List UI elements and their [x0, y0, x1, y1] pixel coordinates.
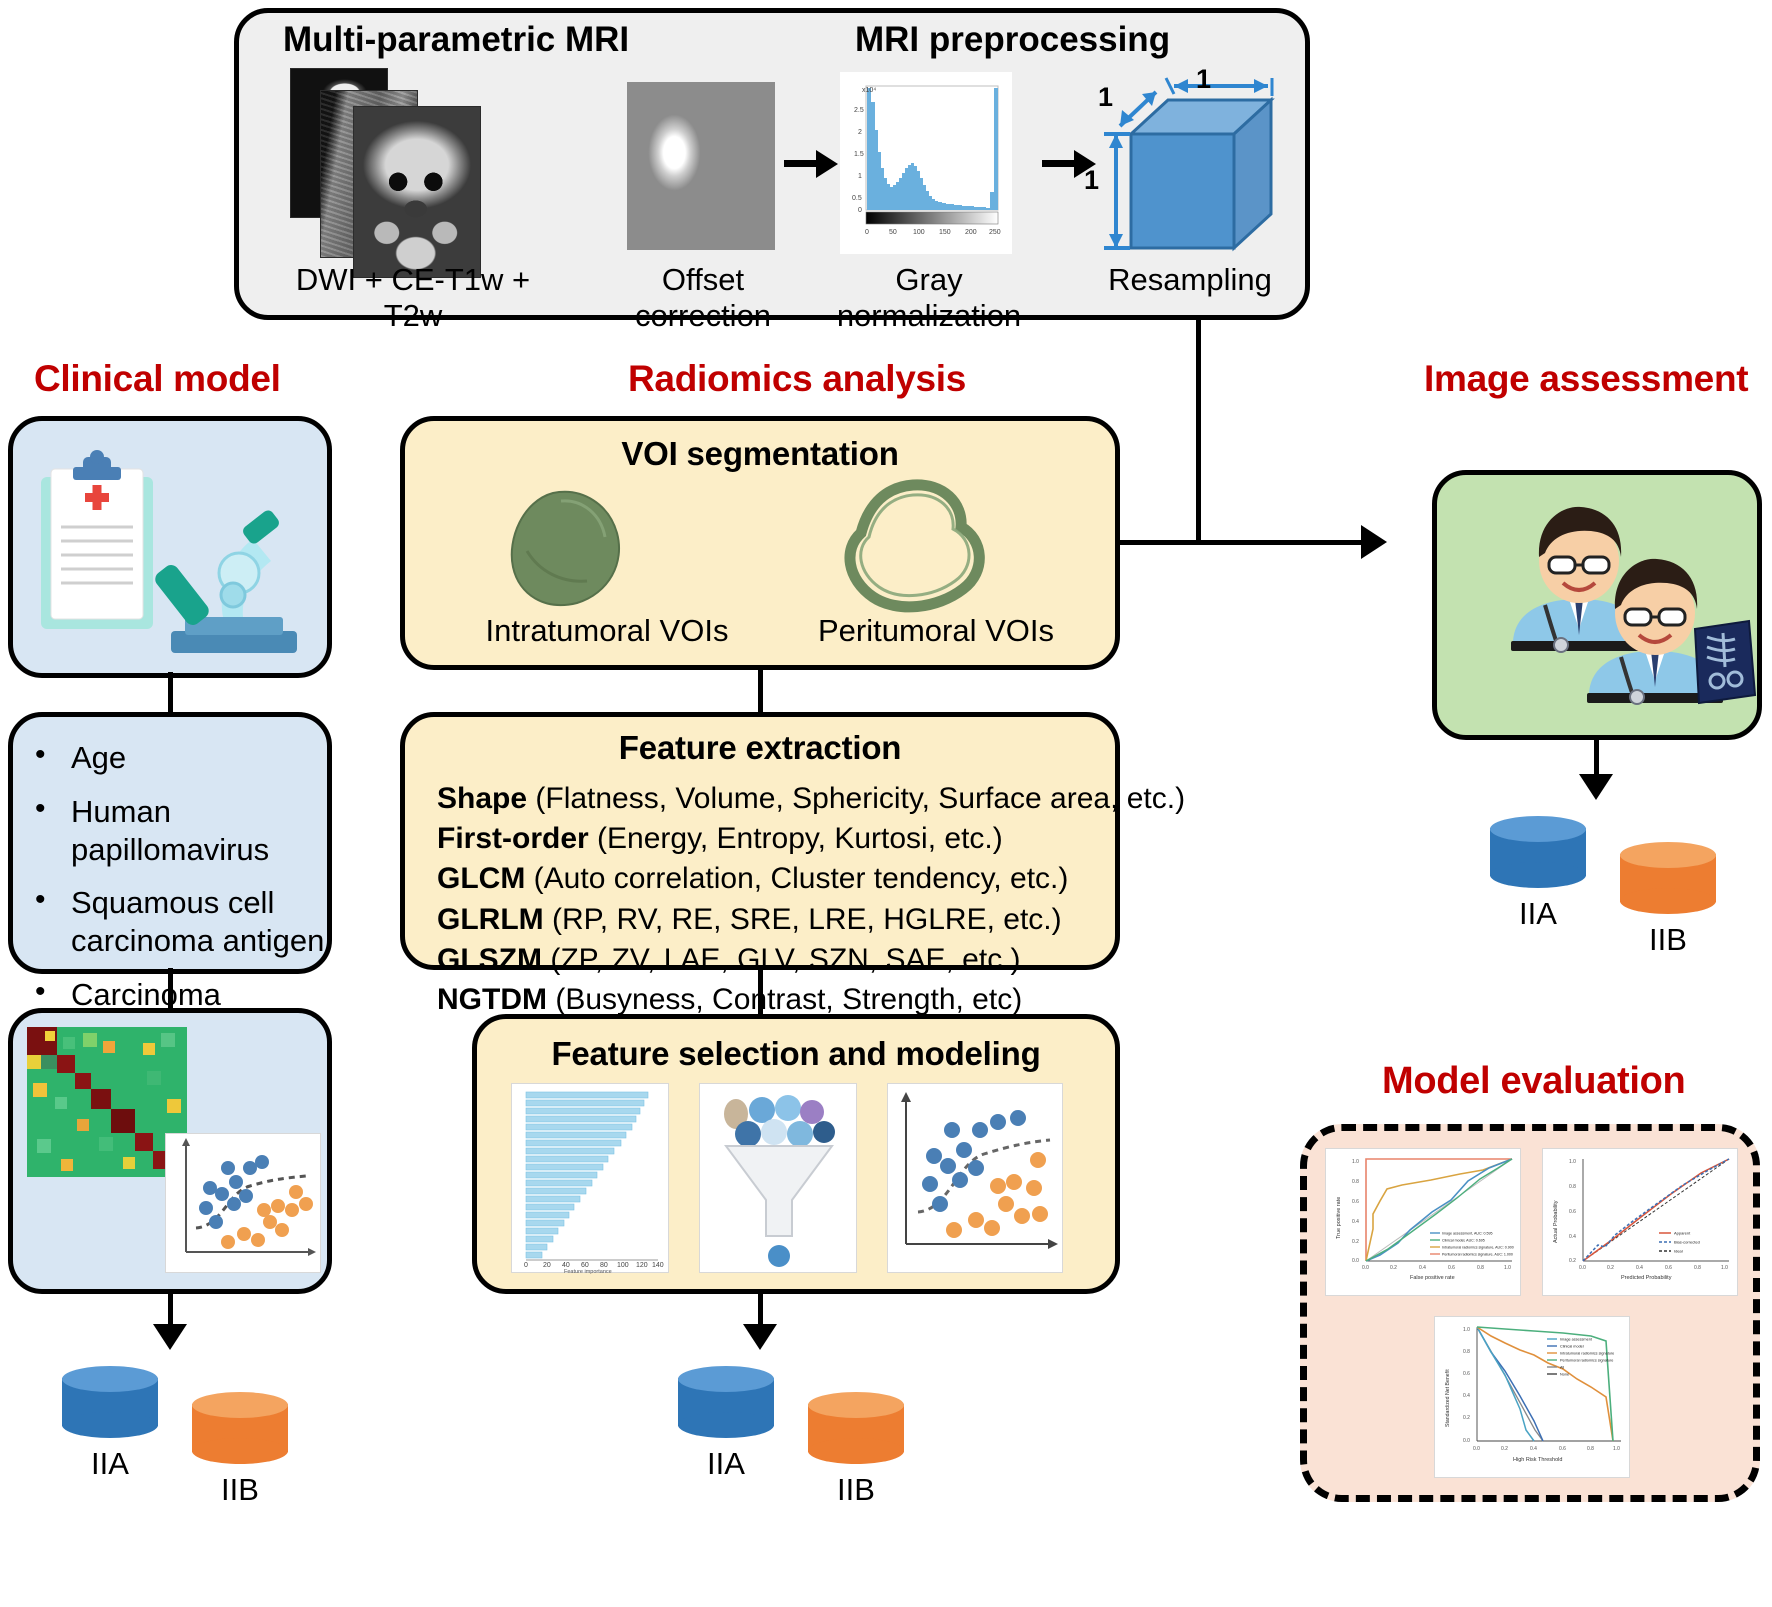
svg-text:Image assessment, AUC: 0.595: Image assessment, AUC: 0.595 [1442, 1232, 1493, 1236]
svg-text:0.8: 0.8 [1569, 1184, 1576, 1190]
correlation-heatmap [27, 1027, 187, 1177]
feature-selection-box: Feature selection and modeling [472, 1014, 1120, 1294]
svg-text:None: None [1560, 1372, 1569, 1376]
assessment-output-iib: IIB [1620, 816, 1716, 958]
svg-text:1.0: 1.0 [1352, 1159, 1359, 1165]
clinical-output-iia-label: IIA [62, 1446, 158, 1482]
clinical-output-iia: IIA [62, 1366, 158, 1508]
svg-text:200: 200 [965, 229, 977, 236]
feature-extraction-header: Feature extraction [405, 729, 1115, 767]
radiomics-to-output-line [758, 1290, 763, 1328]
feature-family-ngtdm: NGTDM [437, 983, 547, 1016]
svg-text:1.0: 1.0 [1569, 1159, 1576, 1165]
clinical-plots-box [8, 1008, 332, 1294]
svg-text:0.6: 0.6 [1463, 1371, 1470, 1377]
svg-text:Peritumoral radiomics signatur: Peritumoral radiomics signature [1560, 1358, 1613, 1362]
svg-text:1.0: 1.0 [1463, 1327, 1470, 1333]
svg-text:0.0: 0.0 [1579, 1265, 1586, 1271]
feature-selection-header: Feature selection and modeling [477, 1035, 1115, 1073]
svg-text:0: 0 [865, 229, 869, 236]
peritumoral-voi-shape [825, 479, 1005, 619]
svg-text:Actual Probability: Actual Probability [1553, 1200, 1559, 1243]
feature-detail-glrlm: (RP, RV, RE, SRE, LRE, HGLRE, etc.) [552, 903, 1062, 936]
assessment-output-iib-label: IIB [1620, 922, 1716, 958]
svg-text:0.4: 0.4 [1636, 1265, 1643, 1271]
clinical-factor-item: Age [13, 739, 327, 777]
voi-to-extraction-line [758, 666, 763, 714]
svg-text:0.2: 0.2 [1463, 1415, 1470, 1421]
svg-text:50: 50 [889, 229, 897, 236]
split-arrow-right [1361, 525, 1387, 559]
radiomics-analysis-title: Radiomics analysis [628, 358, 966, 400]
svg-text:Predicted Probability: Predicted Probability [1621, 1275, 1672, 1281]
feature-importance-plot: 020 4060 80100 120140 Feature importance [511, 1083, 669, 1273]
voi-segmentation-box: VOI segmentation Intratumoral VOIs Perit… [400, 416, 1120, 670]
radiologists-icon [1483, 495, 1772, 725]
svg-text:0.4: 0.4 [1463, 1393, 1470, 1399]
feature-detail-glszm: (ZP, ZV, LAE, GLV, SZN, SAE, etc.) [550, 943, 1020, 976]
svg-text:150: 150 [939, 229, 951, 236]
resample-dim-depth: 1 [1098, 82, 1113, 113]
svg-text:0.2: 0.2 [1352, 1239, 1359, 1245]
svg-text:Peritumoral radiomics signatur: Peritumoral radiomics signature, AUC: 1.… [1442, 1253, 1513, 1257]
preproc-arrow-1-line [784, 160, 818, 167]
feature-detail-glcm: (Auto correlation, Cluster tendency, etc… [534, 862, 1069, 895]
voi-segmentation-header: VOI segmentation [405, 435, 1115, 473]
resample-dim-width: 1 [1196, 64, 1211, 95]
svg-text:0.4: 0.4 [1419, 1265, 1426, 1271]
assessment-output-arrow [1579, 774, 1613, 800]
svg-text:1.0: 1.0 [1721, 1265, 1728, 1271]
clinical-icon-box [8, 416, 332, 678]
feature-line-first-order: First-order (Energy, Entropy, Kurtosi, e… [437, 819, 1115, 859]
calibration-curve-plot: 1.00.8 0.60.4 0.2 0.00.2 0.40.6 0.81.0 P… [1542, 1148, 1738, 1296]
clinical-to-output-line [168, 1290, 173, 1328]
svg-text:True positive rate: True positive rate [1336, 1197, 1342, 1239]
svg-text:0.5: 0.5 [852, 195, 862, 202]
svg-text:Clinical model, AUC: 0.695: Clinical model, AUC: 0.695 [1442, 1239, 1485, 1243]
svg-text:100: 100 [617, 1262, 629, 1269]
svg-text:0.0: 0.0 [1473, 1446, 1480, 1452]
intratumoral-voi-caption: Intratumoral VOIs [467, 613, 747, 649]
mri-preprocessing-title: MRI preprocessing [855, 20, 1170, 60]
feature-detail-first-order: (Energy, Entropy, Kurtosi, etc.) [597, 822, 1003, 855]
feature-line-glrlm: GLRLM (RP, RV, RE, SRE, LRE, HGLRE, etc.… [437, 900, 1115, 940]
radiomics-output-iib: IIB [808, 1366, 904, 1508]
gray-normalization-caption: Gray normalization [816, 262, 1042, 334]
radiomics-output-iia: IIA [678, 1366, 774, 1508]
svg-text:0.4: 0.4 [1530, 1446, 1537, 1452]
clinical-scatter-plot [165, 1133, 321, 1273]
preproc-arrow-1-head [816, 150, 838, 178]
multiparametric-mri-title: Multi-parametric MRI [283, 20, 629, 60]
feature-line-glszm: GLSZM (ZP, ZV, LAE, GLV, SZN, SAE, etc.) [437, 940, 1115, 980]
feature-family-first-order: First-order [437, 822, 589, 855]
svg-text:0.6: 0.6 [1352, 1199, 1359, 1205]
intratumoral-voi-shape [491, 485, 661, 615]
svg-text:60: 60 [581, 1262, 589, 1269]
svg-text:Intratumoral radiomics signatu: Intratumoral radiomics signature, AUC: 0… [1442, 1246, 1514, 1250]
radiomics-output-arrow [743, 1324, 777, 1350]
gray-normalization-histogram: x10⁴ 2.5 2 1.5 1 0.5 0 0 50 100 150 200 … [840, 72, 1012, 254]
clinical-factors-to-plots-line [168, 968, 173, 1012]
svg-text:140: 140 [652, 1262, 664, 1269]
svg-text:1.5: 1.5 [854, 151, 864, 158]
offset-correction-caption: Offset correction [598, 262, 808, 334]
svg-text:0: 0 [858, 207, 862, 214]
svg-text:Bias-corrected: Bias-corrected [1674, 1240, 1700, 1245]
svg-text:0.8: 0.8 [1463, 1349, 1470, 1355]
svg-text:0.6: 0.6 [1665, 1265, 1672, 1271]
svg-text:0.0: 0.0 [1352, 1258, 1359, 1264]
feature-line-glcm: GLCM (Auto correlation, Cluster tendency… [437, 859, 1115, 899]
svg-text:Apparent: Apparent [1674, 1231, 1691, 1236]
feature-detail-shape: (Flatness, Volume, Sphericity, Surface a… [535, 782, 1185, 815]
assessment-output-iia: IIA [1490, 816, 1586, 958]
svg-text:120: 120 [636, 1262, 648, 1269]
clinical-output-arrow [153, 1324, 187, 1350]
clinical-outputs: IIA IIB [62, 1366, 288, 1508]
feature-extraction-box: Feature extraction Shape (Flatness, Volu… [400, 712, 1120, 970]
svg-text:80: 80 [600, 1262, 608, 1269]
svg-text:Feature importance: Feature importance [564, 1269, 612, 1274]
clinical-output-iib-label: IIB [192, 1472, 288, 1508]
modeling-scatter-plot [887, 1083, 1063, 1273]
radiomics-output-iib-label: IIB [808, 1472, 904, 1508]
clipboard-microscope-icon [27, 435, 327, 675]
svg-text:0.0: 0.0 [1463, 1438, 1470, 1444]
svg-text:0.4: 0.4 [1569, 1234, 1576, 1240]
svg-text:0.2: 0.2 [1501, 1446, 1508, 1452]
clinical-factors-box: Age Human papillomavirus Squamous cell c… [8, 712, 332, 974]
image-assessment-title: Image assessment [1424, 358, 1748, 400]
svg-text:20: 20 [543, 1262, 551, 1269]
feature-detail-ngtdm: (Busyness, Contrast, Strength, etc) [555, 983, 1022, 1016]
svg-text:x10⁴: x10⁴ [862, 87, 876, 94]
svg-text:0.6: 0.6 [1448, 1265, 1455, 1271]
svg-text:Image assessment: Image assessment [1560, 1337, 1593, 1341]
feature-funnel-plot [699, 1083, 857, 1273]
resampling-voxel [1096, 64, 1286, 260]
svg-text:0.8: 0.8 [1694, 1265, 1701, 1271]
feature-family-glszm: GLSZM [437, 943, 542, 976]
radiomics-output-iia-label: IIA [678, 1446, 774, 1482]
extraction-to-selection-line [758, 966, 763, 1018]
svg-text:All: All [1560, 1365, 1564, 1369]
svg-text:0.6: 0.6 [1559, 1446, 1566, 1452]
svg-text:0.8: 0.8 [1352, 1179, 1359, 1185]
svg-text:0.8: 0.8 [1477, 1265, 1484, 1271]
decision-curve-plot: 1.00.8 0.60.4 0.20.0 0.00.2 0.40.6 0.81.… [1434, 1316, 1630, 1478]
svg-text:0: 0 [524, 1262, 528, 1269]
svg-text:0.8: 0.8 [1587, 1446, 1594, 1452]
svg-text:Standardized Net Benefit: Standardized Net Benefit [1445, 1369, 1451, 1427]
feature-family-shape: Shape [437, 782, 527, 815]
gray-normalization-image: x10⁴ 2.5 2 1.5 1 0.5 0 0 50 100 150 200 … [840, 72, 1012, 254]
model-evaluation-title: Model evaluation [1382, 1060, 1685, 1103]
feature-family-glrlm: GLRLM [437, 903, 544, 936]
svg-text:2: 2 [858, 129, 862, 136]
svg-text:Ideal: Ideal [1674, 1249, 1683, 1254]
offset-correction-image [627, 82, 775, 250]
svg-text:Intratumoral radiomics signatu: Intratumoral radiomics signature [1560, 1351, 1614, 1355]
resampling-caption: Resampling [1078, 262, 1302, 298]
preproc-arrow-2-line [1042, 160, 1076, 167]
clinical-factor-item: Squamous cell carcinoma antigen [13, 884, 327, 960]
roc-curve-plot: 1.00.8 0.60.4 0.20.0 0.00.2 0.40.6 0.81.… [1325, 1148, 1521, 1296]
svg-text:0.6: 0.6 [1569, 1209, 1576, 1215]
clinical-model-title: Clinical model [34, 358, 281, 400]
mri-slice-stack [290, 68, 540, 258]
svg-text:250: 250 [989, 229, 1001, 236]
clinical-output-iib: IIB [192, 1366, 288, 1508]
svg-text:2.5: 2.5 [854, 107, 864, 114]
svg-text:0.0: 0.0 [1362, 1265, 1369, 1271]
radiomics-outputs: IIA IIB [678, 1366, 904, 1508]
assessment-outputs: IIA IIB [1490, 816, 1716, 958]
svg-text:High Risk Threshold: High Risk Threshold [1513, 1457, 1562, 1463]
svg-text:1.0: 1.0 [1613, 1446, 1620, 1452]
feature-line-shape: Shape (Flatness, Volume, Sphericity, Sur… [437, 779, 1115, 819]
feature-family-glcm: GLCM [437, 862, 525, 895]
image-assessment-box [1432, 470, 1762, 740]
svg-text:40: 40 [562, 1262, 570, 1269]
mri-caption: DWI + CE-T1w + T2w [268, 262, 558, 334]
assessment-output-iia-label: IIA [1490, 896, 1586, 932]
mri-slice-t2w [353, 106, 481, 278]
svg-text:Clinical model: Clinical model [1560, 1344, 1584, 1348]
clinical-icon-to-factors-line [168, 672, 173, 716]
svg-text:False positive rate: False positive rate [1410, 1275, 1455, 1281]
resample-dim-height: 1 [1084, 165, 1099, 196]
assessment-to-output-line [1594, 738, 1599, 778]
svg-text:0.2: 0.2 [1390, 1265, 1397, 1271]
svg-text:0.2: 0.2 [1569, 1258, 1576, 1264]
svg-text:1.0: 1.0 [1504, 1265, 1511, 1271]
svg-text:100: 100 [913, 229, 925, 236]
clinical-factor-item: Human papillomavirus [13, 793, 327, 869]
topbox-to-split-line [1196, 318, 1201, 542]
svg-text:0.2: 0.2 [1607, 1265, 1614, 1271]
svg-text:0.4: 0.4 [1352, 1219, 1359, 1225]
peritumoral-voi-caption: Peritumoral VOIs [791, 613, 1081, 649]
svg-text:1: 1 [858, 173, 862, 180]
